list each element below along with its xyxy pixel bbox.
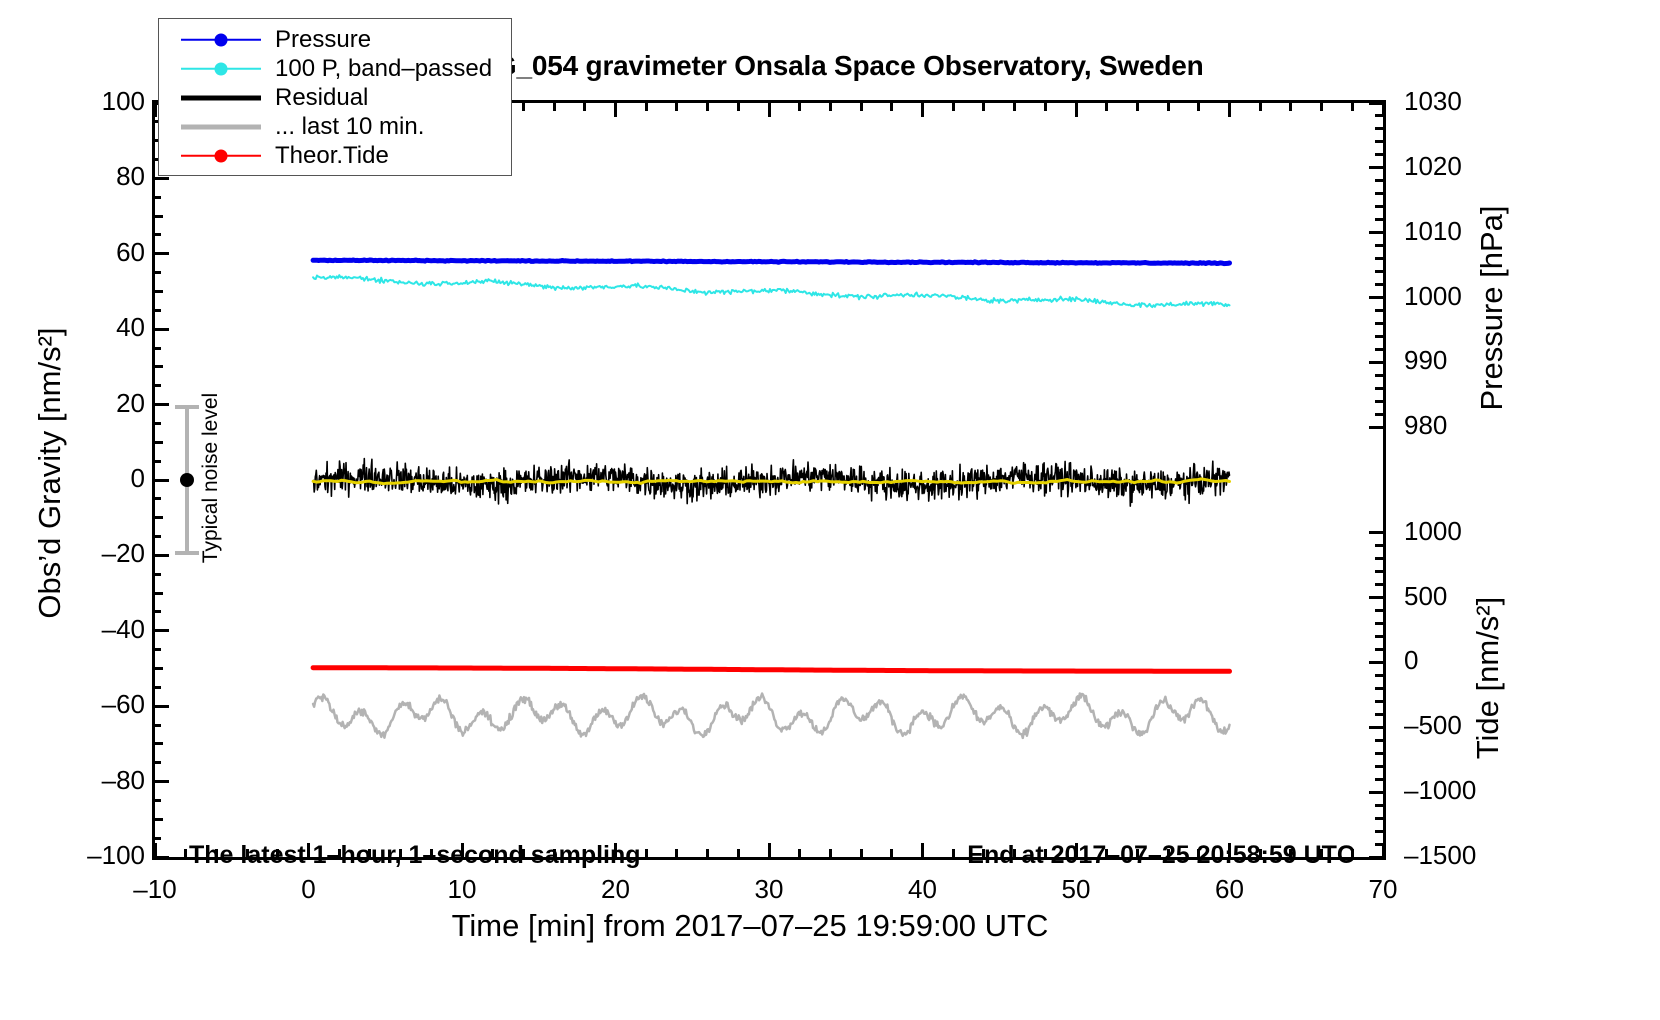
- tick-mark: [1375, 387, 1383, 390]
- legend-label: ... last 10 min.: [275, 115, 424, 139]
- tick-mark: [982, 103, 985, 111]
- tick-mark: [1369, 661, 1383, 664]
- axis-ticks-layer: [155, 103, 1383, 857]
- sampling-note: The latest 1–hour, 1–second sampling: [189, 841, 641, 870]
- y-tick-label-pressure: 1030: [1404, 86, 1554, 117]
- end-time-note: End at 2017–07–25 20:58:59 UTC: [967, 841, 1355, 870]
- y-tick-label-left: 100: [25, 86, 145, 117]
- tick-mark: [155, 592, 161, 595]
- y-tick-label-left: 60: [25, 237, 145, 268]
- noise-cap-bottom: [175, 551, 199, 555]
- tick-mark: [706, 103, 709, 111]
- y-tick-label-pressure: 1000: [1404, 281, 1554, 312]
- x-tick-label: 70: [1323, 874, 1443, 905]
- tick-mark: [645, 103, 648, 111]
- tick-mark: [583, 103, 586, 111]
- tick-mark: [1375, 609, 1383, 612]
- tick-mark: [1105, 103, 1108, 111]
- tick-mark: [1375, 752, 1383, 755]
- tick-mark: [1369, 166, 1383, 169]
- gravimeter-plot-page: SCG_054 gravimeter Onsala Space Observat…: [0, 0, 1660, 1020]
- tick-mark: [522, 103, 525, 111]
- y-tick-label-tide: –500: [1404, 710, 1554, 741]
- tick-mark: [155, 610, 161, 613]
- tick-mark: [184, 849, 187, 857]
- tick-mark: [155, 196, 161, 199]
- y-tick-label-tide: 1000: [1404, 516, 1554, 547]
- tick-mark: [1369, 726, 1383, 729]
- tick-mark: [155, 818, 161, 821]
- y-tick-label-tide: –1500: [1404, 840, 1554, 871]
- tick-mark: [1375, 283, 1383, 286]
- tick-mark: [1375, 557, 1383, 560]
- tick-mark: [553, 103, 556, 111]
- tick-mark: [1369, 531, 1383, 534]
- x-tick-label: –10: [95, 874, 215, 905]
- tick-mark: [155, 761, 161, 764]
- tick-mark: [1375, 700, 1383, 703]
- tick-mark: [1044, 103, 1047, 111]
- tick-mark: [1375, 413, 1383, 416]
- noise-cap-top: [175, 405, 199, 409]
- legend-item-1[interactable]: 100 P, band–passed: [159, 54, 511, 83]
- tick-mark: [1375, 804, 1383, 807]
- noise-label: Typical noise level: [199, 384, 223, 572]
- tick-mark: [155, 780, 161, 783]
- tick-mark: [1369, 596, 1383, 599]
- tick-mark: [1375, 348, 1383, 351]
- tick-mark: [154, 103, 157, 117]
- legend-dot-icon: [215, 33, 228, 46]
- legend-item-0[interactable]: Pressure: [159, 25, 511, 54]
- tick-mark: [921, 843, 924, 857]
- tick-mark: [921, 103, 924, 117]
- x-tick-label: 10: [402, 874, 522, 905]
- tick-mark: [1375, 622, 1383, 625]
- tick-mark: [614, 103, 617, 117]
- y-tick-label-tide: 0: [1404, 645, 1554, 676]
- tick-mark: [768, 843, 771, 857]
- plot-frame: Typical noise level The latest 1–hour, 1…: [152, 100, 1386, 860]
- tick-mark: [1375, 140, 1383, 143]
- tick-mark: [1375, 400, 1383, 403]
- tick-mark: [155, 365, 161, 368]
- legend-item-4[interactable]: Theor.Tide: [159, 141, 511, 170]
- x-tick-label: 60: [1170, 874, 1290, 905]
- legend-item-3[interactable]: ... last 10 min.: [159, 112, 511, 141]
- tick-mark: [1375, 739, 1383, 742]
- y-tick-label-left: –80: [25, 765, 145, 796]
- tick-mark: [645, 849, 648, 857]
- tick-mark: [798, 849, 801, 857]
- tick-mark: [798, 103, 801, 111]
- tick-mark: [1375, 570, 1383, 573]
- tick-mark: [155, 309, 161, 312]
- tick-mark: [1375, 218, 1383, 221]
- tick-mark: [155, 799, 161, 802]
- tick-mark: [1375, 257, 1383, 260]
- tick-mark: [1320, 103, 1323, 111]
- tick-mark: [1369, 426, 1383, 429]
- legend-label: Residual: [275, 86, 368, 110]
- tick-mark: [1136, 103, 1139, 111]
- tick-mark: [155, 177, 161, 180]
- legend-key-icon: [181, 146, 261, 166]
- tick-mark: [155, 837, 161, 840]
- tick-mark: [155, 347, 161, 350]
- tick-mark: [155, 724, 161, 727]
- legend-label: Theor.Tide: [275, 144, 389, 168]
- tick-mark: [155, 233, 161, 236]
- legend[interactable]: Pressure100 P, band–passedResidual... la…: [158, 18, 512, 176]
- tick-mark: [768, 103, 771, 117]
- y-tick-label-left: 80: [25, 161, 145, 192]
- tick-mark: [1375, 765, 1383, 768]
- tick-mark: [890, 103, 893, 111]
- legend-line: [181, 95, 261, 100]
- tick-mark: [1369, 361, 1383, 364]
- y-tick-label-pressure: 990: [1404, 345, 1554, 376]
- tick-mark: [1375, 544, 1383, 547]
- tick-mark: [1375, 322, 1383, 325]
- tick-mark: [155, 252, 161, 255]
- tick-mark: [675, 849, 678, 857]
- tick-mark: [1375, 153, 1383, 156]
- y-tick-label-pressure: 980: [1404, 410, 1554, 441]
- tick-mark: [737, 849, 740, 857]
- tick-mark: [890, 849, 893, 857]
- tick-mark: [1375, 635, 1383, 638]
- x-tick-label: 30: [709, 874, 829, 905]
- tick-mark: [1375, 648, 1383, 651]
- y-tick-label-left: –100: [25, 840, 145, 871]
- y-tick-label-pressure: 1020: [1404, 151, 1554, 182]
- y-tick-label-left: –40: [25, 614, 145, 645]
- tick-mark: [155, 742, 161, 745]
- tick-mark: [155, 667, 161, 670]
- tick-mark: [1289, 103, 1292, 111]
- tick-mark: [155, 328, 161, 331]
- tick-mark: [155, 686, 161, 689]
- tick-mark: [155, 384, 161, 387]
- tick-mark: [1375, 713, 1383, 716]
- x-tick-label: 20: [556, 874, 676, 905]
- legend-dot-icon: [215, 149, 228, 162]
- legend-key-icon: [181, 88, 261, 108]
- y-tick-label-left: –20: [25, 538, 145, 569]
- x-tick-label: 0: [249, 874, 369, 905]
- legend-label: Pressure: [275, 28, 371, 52]
- legend-key-icon: [181, 59, 261, 79]
- tick-mark: [1375, 830, 1383, 833]
- x-axis-label: Time [min] from 2017–07–25 19:59:00 UTC: [0, 908, 1500, 944]
- tick-mark: [1369, 296, 1383, 299]
- legend-item-2[interactable]: Residual: [159, 83, 511, 112]
- tick-mark: [706, 849, 709, 857]
- tick-mark: [737, 103, 740, 111]
- tick-mark: [155, 648, 161, 651]
- typical-noise-level-marker: Typical noise level: [161, 405, 241, 556]
- tick-mark: [1375, 309, 1383, 312]
- y-tick-label-left: 40: [25, 312, 145, 343]
- tick-mark: [1382, 103, 1385, 117]
- tick-mark: [1167, 103, 1170, 111]
- tick-mark: [1375, 127, 1383, 130]
- tick-mark: [155, 271, 161, 274]
- tick-mark: [1375, 179, 1383, 182]
- y-tick-label-left: 0: [25, 463, 145, 494]
- tick-mark: [860, 849, 863, 857]
- tick-mark: [1375, 583, 1383, 586]
- tick-mark: [952, 103, 955, 111]
- noise-center-dot: [180, 473, 194, 487]
- tick-mark: [1375, 270, 1383, 273]
- tick-mark: [155, 215, 161, 218]
- y-tick-label-left: –60: [25, 689, 145, 720]
- tick-mark: [154, 843, 157, 857]
- tick-mark: [1013, 103, 1016, 111]
- tick-mark: [1382, 843, 1385, 857]
- tick-mark: [155, 290, 161, 293]
- y-tick-label-pressure: 1010: [1404, 216, 1554, 247]
- tick-mark: [1375, 205, 1383, 208]
- tick-mark: [1375, 244, 1383, 247]
- tick-mark: [155, 629, 161, 632]
- tick-mark: [1259, 103, 1262, 111]
- tick-mark: [1375, 674, 1383, 677]
- y-tick-label-tide: –1000: [1404, 775, 1554, 806]
- tick-mark: [1375, 687, 1383, 690]
- tick-mark: [1375, 817, 1383, 820]
- tick-mark: [155, 573, 161, 576]
- tick-mark: [1369, 791, 1383, 794]
- x-tick-label: 40: [863, 874, 983, 905]
- y-tick-label-tide: 500: [1404, 581, 1554, 612]
- tick-mark: [155, 705, 161, 708]
- tick-mark: [1375, 778, 1383, 781]
- legend-dot-icon: [215, 62, 228, 75]
- tick-mark: [1375, 374, 1383, 377]
- tick-mark: [675, 103, 678, 111]
- legend-key-icon: [181, 30, 261, 50]
- tick-mark: [1369, 231, 1383, 234]
- tick-mark: [1075, 103, 1078, 117]
- x-tick-label: 50: [1016, 874, 1136, 905]
- tick-mark: [1228, 103, 1231, 117]
- tick-mark: [1197, 103, 1200, 111]
- y-tick-label-left: 20: [25, 388, 145, 419]
- tick-mark: [1351, 103, 1354, 111]
- tick-mark: [829, 849, 832, 857]
- tick-mark: [1375, 192, 1383, 195]
- tick-mark: [829, 103, 832, 111]
- legend-label: 100 P, band–passed: [275, 57, 492, 81]
- legend-line: [181, 124, 261, 129]
- tick-mark: [1375, 335, 1383, 338]
- legend-key-icon: [181, 117, 261, 137]
- tick-mark: [952, 849, 955, 857]
- tick-mark: [860, 103, 863, 111]
